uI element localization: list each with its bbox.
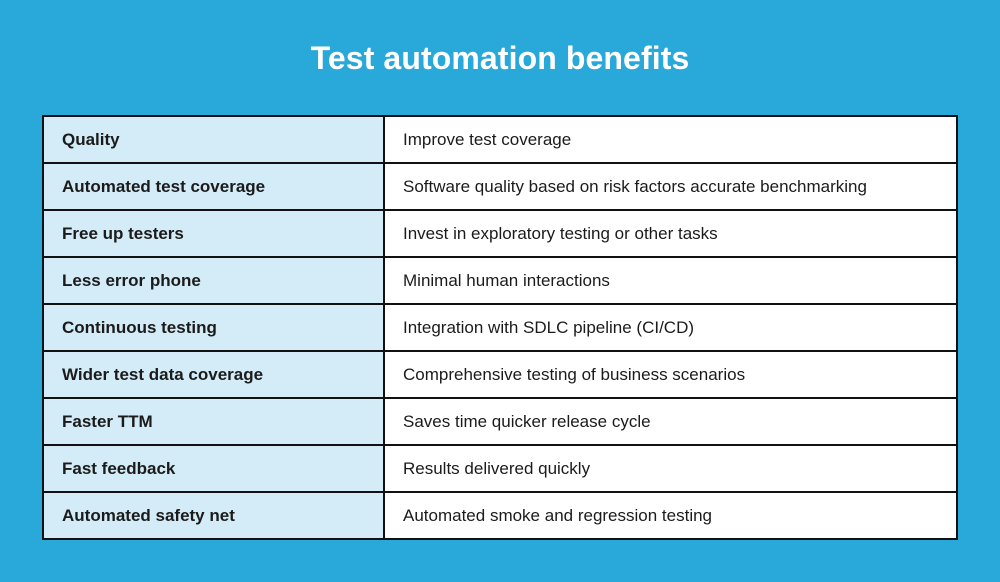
benefit-description-cell: Integration with SDLC pipeline (CI/CD)	[384, 304, 957, 351]
table-row: Wider test data coverage Comprehensive t…	[43, 351, 957, 398]
table-row: Faster TTM Saves time quicker release cy…	[43, 398, 957, 445]
benefits-table-body: Quality Improve test coverage Automated …	[43, 116, 957, 539]
table-row: Automated test coverage Software quality…	[43, 163, 957, 210]
benefit-term-cell: Faster TTM	[43, 398, 384, 445]
benefit-term-cell: Free up testers	[43, 210, 384, 257]
benefit-description-cell: Comprehensive testing of business scenar…	[384, 351, 957, 398]
benefit-term-cell: Continuous testing	[43, 304, 384, 351]
benefit-description-cell: Saves time quicker release cycle	[384, 398, 957, 445]
table-row: Free up testers Invest in exploratory te…	[43, 210, 957, 257]
benefit-term-cell: Quality	[43, 116, 384, 163]
table-row: Quality Improve test coverage	[43, 116, 957, 163]
benefit-description-cell: Software quality based on risk factors a…	[384, 163, 957, 210]
benefit-term-cell: Automated test coverage	[43, 163, 384, 210]
benefit-description-cell: Invest in exploratory testing or other t…	[384, 210, 957, 257]
benefit-term-cell: Less error phone	[43, 257, 384, 304]
page-title: Test automation benefits	[0, 37, 1000, 79]
benefit-description-cell: Automated smoke and regression testing	[384, 492, 957, 539]
benefit-description-cell: Minimal human interactions	[384, 257, 957, 304]
table-row: Fast feedback Results delivered quickly	[43, 445, 957, 492]
table-row: Continuous testing Integration with SDLC…	[43, 304, 957, 351]
benefits-table: Quality Improve test coverage Automated …	[42, 115, 958, 540]
benefit-description-cell: Results delivered quickly	[384, 445, 957, 492]
slide-canvas: Test automation benefits Quality Improve…	[0, 0, 1000, 582]
benefit-term-cell: Wider test data coverage	[43, 351, 384, 398]
table-row: Automated safety net Automated smoke and…	[43, 492, 957, 539]
benefit-term-cell: Fast feedback	[43, 445, 384, 492]
table-row: Less error phone Minimal human interacti…	[43, 257, 957, 304]
benefit-description-cell: Improve test coverage	[384, 116, 957, 163]
benefit-term-cell: Automated safety net	[43, 492, 384, 539]
